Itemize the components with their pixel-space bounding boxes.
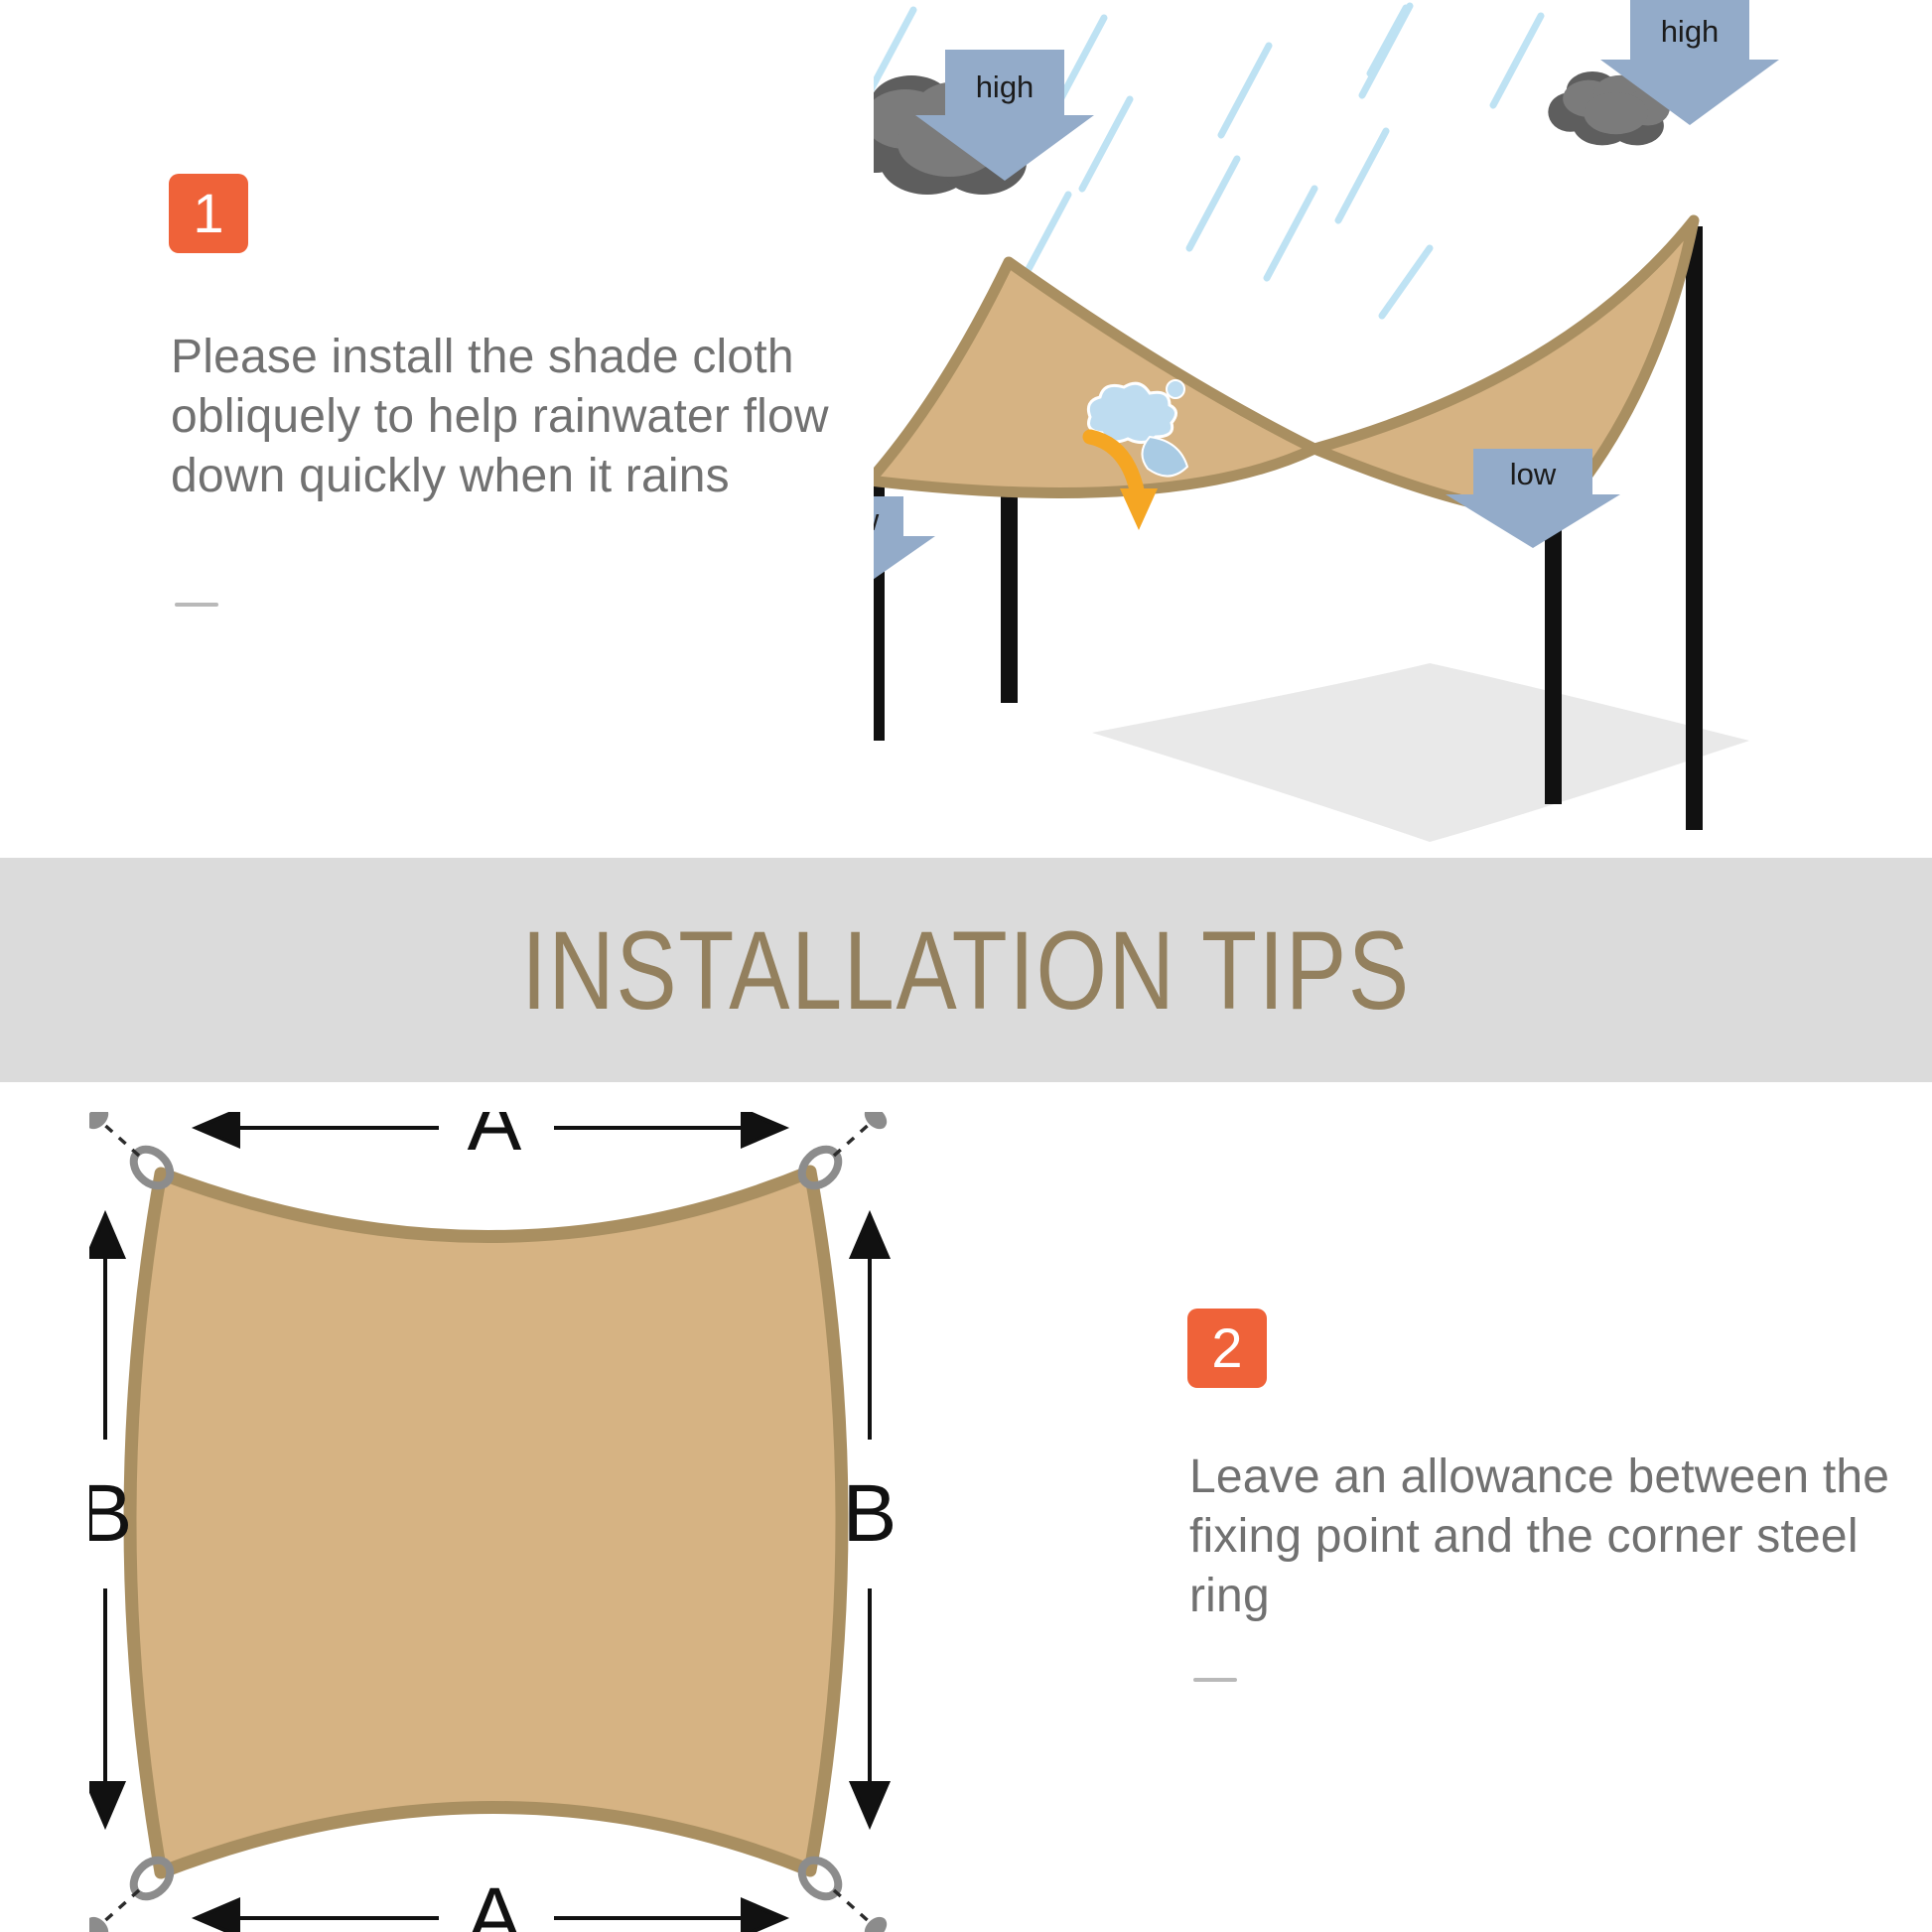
dimension-label-b-left: B [89, 1468, 132, 1559]
sail-dimension-diagram: A A B B [89, 1112, 903, 1932]
step-2-badge: 2 [1187, 1309, 1267, 1388]
shade-sail-square [130, 1172, 842, 1872]
step-1-badge: 1 [169, 174, 248, 253]
label-high-left: high [976, 69, 1035, 104]
installation-tips-banner: INSTALLATION TIPS [0, 858, 1932, 1082]
label-arrow-low-left: low [874, 496, 935, 582]
label-high-right: high [1661, 14, 1720, 49]
rain-runoff-diagram: high high low low [874, 0, 1932, 844]
step-2-text: Leave an allowance between the fixing po… [1189, 1448, 1914, 1626]
step-1-divider [175, 603, 218, 607]
infographic-page: 1 Please install the shade cloth oblique… [0, 0, 1932, 1932]
label-low-right: low [1510, 457, 1557, 491]
dimension-label-a-bottom: A [468, 1871, 522, 1932]
step-2-divider [1193, 1678, 1237, 1682]
flow-arrow-head [1120, 488, 1158, 530]
label-low-left: low [874, 502, 880, 537]
ground-shadow [1092, 663, 1749, 842]
dimension-label-a-top: A [468, 1112, 522, 1168]
step-1-text: Please install the shade cloth obliquely… [171, 328, 886, 506]
dimension-label-b-right: B [843, 1468, 897, 1559]
banner-title: INSTALLATION TIPS [174, 858, 1758, 1082]
